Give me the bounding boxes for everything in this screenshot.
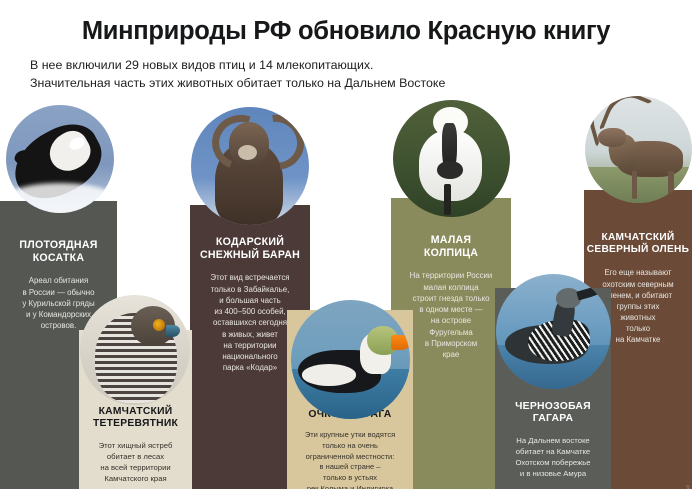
reindeer-head-shape <box>598 128 626 147</box>
card-orca-title: ПЛОТОЯДНАЯ КОСАТКА <box>0 239 117 264</box>
subtitle-line-2: Значительная часть этих животных обитает… <box>30 74 692 92</box>
card-reindeer-title: КАМЧАТСКИЙ СЕВЕРНЫЙ ОЛЕНЬ <box>584 232 692 256</box>
goshawk-photo <box>80 295 190 405</box>
spoonbill-photo <box>393 100 510 217</box>
spoonbill-leg <box>444 184 451 214</box>
goshawk-eye <box>153 319 165 331</box>
page-subtitle: В нее включили 29 новых видов птиц и 14 … <box>30 56 692 93</box>
loon-beak <box>576 284 604 300</box>
infographic-canvas: Минприроды РФ обновило Красную книгу В н… <box>0 0 692 489</box>
goshawk-beak <box>166 325 180 337</box>
card-loon-title: ЧЕРНОЗОБАЯ ГАГАРА <box>495 401 611 426</box>
reindeer-leg-front <box>632 171 637 199</box>
card-goshawk-description: Этот хищный ястреб обитает в лесах на вс… <box>79 441 192 485</box>
orca-photo <box>6 105 114 213</box>
loon-photo <box>496 274 611 389</box>
spectacled-eider-photo <box>291 300 410 419</box>
snow-sheep-muzzle <box>238 145 257 160</box>
page-title: Минприроды РФ обновило Красную книгу <box>0 17 692 45</box>
card-goshawk-title: КАМЧАТСКИЙ ТЕТЕРЕВЯТНИК <box>79 406 192 431</box>
credit-text: ИНФОГРАФИКА: Дальневосточный <box>685 485 690 489</box>
card-snow-sheep-title: КОДАРСКИЙ СНЕЖНЫЙ БАРАН <box>190 236 310 261</box>
orca-water-spray <box>6 183 114 213</box>
card-loon-description: На Дальнем востоке обитает на Камчатке О… <box>495 436 611 480</box>
header: Минприроды РФ обновило Красную книгу В н… <box>0 0 692 93</box>
card-spectacled-eider-description: Эти крупные утки водятся только на очень… <box>287 430 413 489</box>
reindeer-photo <box>585 96 692 203</box>
reindeer-leg-back <box>668 171 673 199</box>
card-spoonbill-title: МАЛАЯ КОЛПИЦА <box>391 234 511 259</box>
spoonbill-bill <box>442 123 457 174</box>
eider-flank <box>302 364 357 385</box>
snow-sheep-photo <box>191 107 309 225</box>
subtitle-line-1: В нее включили 29 новых видов птиц и 14 … <box>30 56 692 74</box>
eider-bill <box>391 335 410 350</box>
